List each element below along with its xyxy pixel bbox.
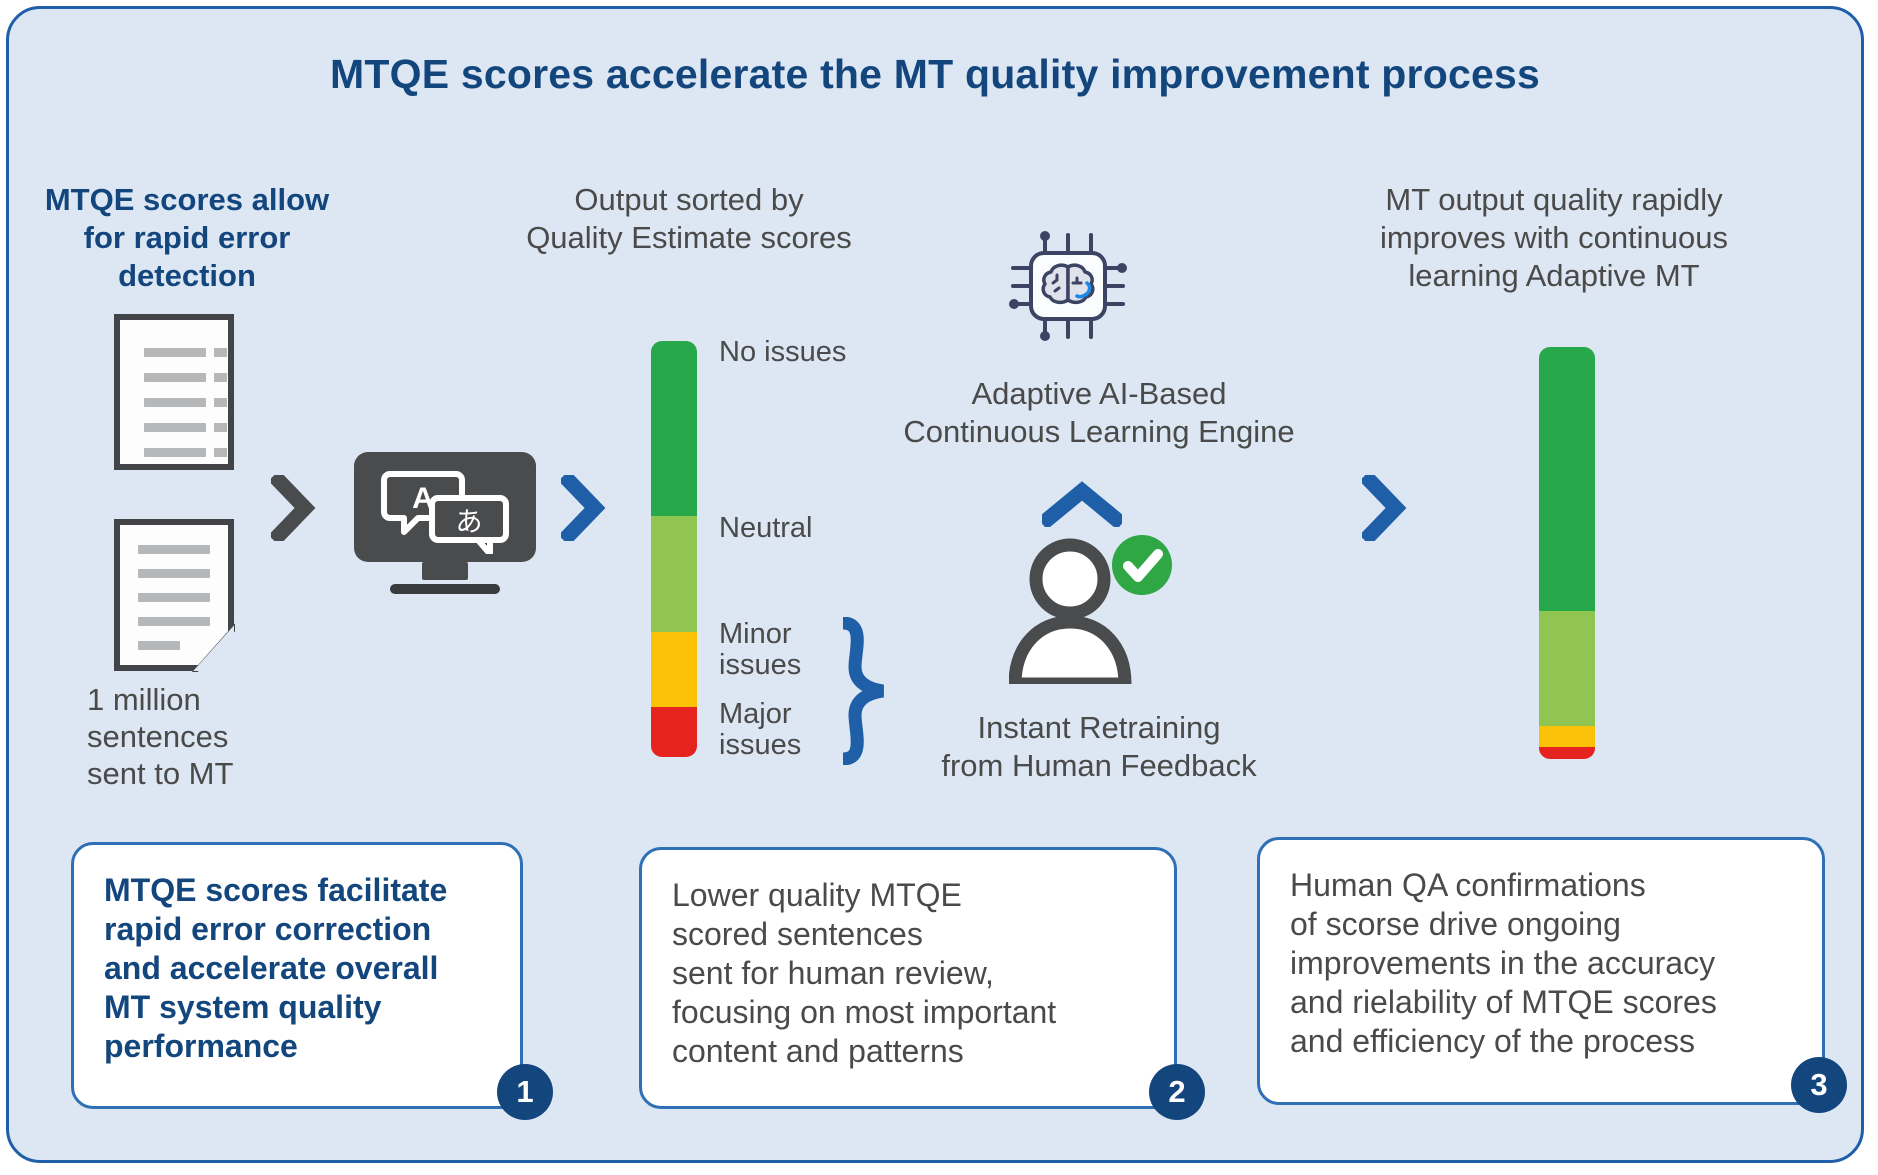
chevron-up-icon <box>1042 481 1122 532</box>
segment-minor-issues <box>651 632 697 707</box>
person-icon <box>1009 534 1179 689</box>
document-folded-icon <box>114 519 234 671</box>
stage2-heading: Output sorted by Quality Estimate scores <box>469 181 909 257</box>
bar-label-neutral: Neutral <box>719 513 813 544</box>
callout-card-1: MTQE scores facilitate rapid error corre… <box>71 842 523 1109</box>
stage3-heading: MT output quality rapidly improves with … <box>1304 181 1804 294</box>
callout-badge-1: 1 <box>497 1064 553 1120</box>
document-icon <box>114 314 234 470</box>
segment-neutral-after <box>1539 611 1595 726</box>
stage1-heading: MTQE scores allow for rapid error detect… <box>27 181 347 294</box>
segment-major-issues <box>651 707 697 757</box>
segment-no-issues-after <box>1539 347 1595 611</box>
callout-badge-2: 2 <box>1149 1064 1205 1120</box>
callout-badge-3: 3 <box>1791 1057 1847 1113</box>
svg-text:あ: あ <box>456 507 483 538</box>
callout-card-1-text: MTQE scores facilitate rapid error corre… <box>104 871 502 1065</box>
bar-label-minor-issues: Minor issues <box>719 619 801 682</box>
ai-brain-chip-icon <box>1009 231 1127 346</box>
quality-distribution-bar-after <box>1539 347 1595 759</box>
segment-major-issues-after <box>1539 747 1595 759</box>
segment-neutral <box>651 516 697 632</box>
page-title: MTQE scores accelerate the MT quality im… <box>9 51 1861 98</box>
quality-distribution-bar-before <box>651 341 697 757</box>
callout-card-3: Human QA confirmations of scorse drive o… <box>1257 837 1825 1105</box>
chevron-right-icon-2 <box>561 475 607 546</box>
callout-card-2-text: Lower quality MTQE scored sentences sent… <box>672 876 1156 1070</box>
instant-retraining-label: Instant Retraining from Human Feedback <box>849 709 1349 785</box>
callout-card-3-text: Human QA confirmations of scorse drive o… <box>1290 866 1804 1060</box>
infographic-panel: MTQE scores accelerate the MT quality im… <box>6 6 1864 1163</box>
segment-minor-issues-after <box>1539 726 1595 747</box>
stage1-caption: 1 million sentences sent to MT <box>87 681 307 793</box>
chevron-right-icon-3 <box>1362 475 1408 546</box>
bar-label-no-issues: No issues <box>719 337 846 368</box>
chevron-right-icon-1 <box>271 475 317 546</box>
engine-heading: Adaptive AI-Based Continuous Learning En… <box>829 375 1369 451</box>
callout-card-2: Lower quality MTQE scored sentences sent… <box>639 847 1177 1109</box>
bar-label-major-issues: Major issues <box>719 699 801 762</box>
segment-no-issues <box>651 341 697 516</box>
